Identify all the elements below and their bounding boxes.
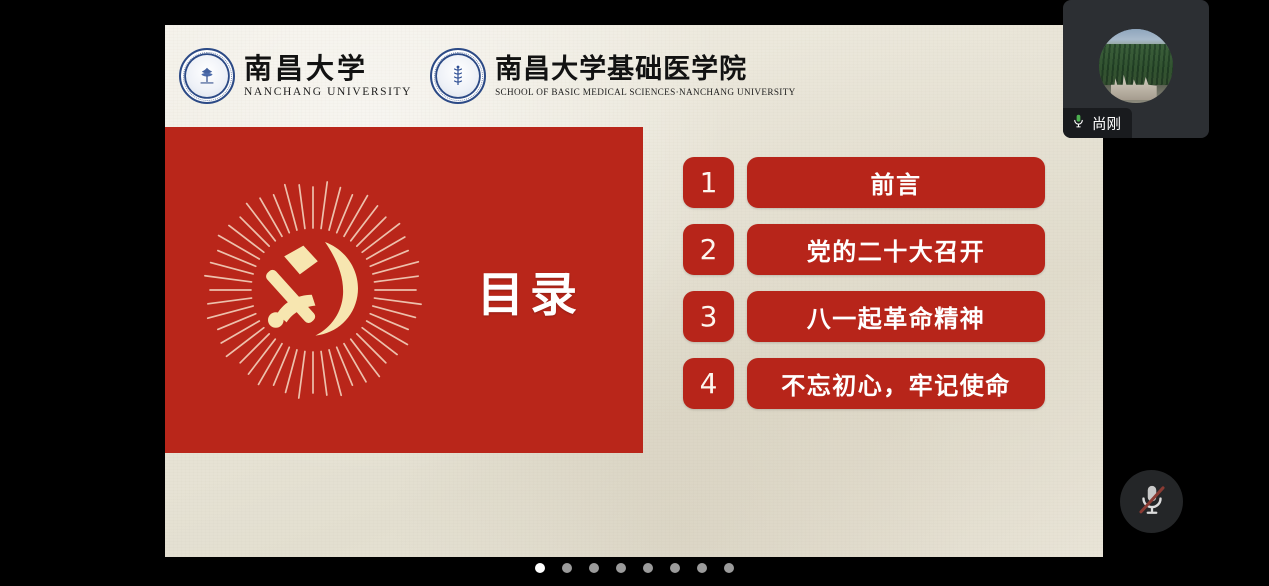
toc-item-label[interactable]: 前言 bbox=[747, 157, 1045, 208]
logo-cn-name: 南昌大学 bbox=[244, 54, 412, 84]
pagination-dot[interactable] bbox=[616, 563, 626, 573]
meeting-screen-share-view: 南昌大学 NANCHANG UNIVERSITY bbox=[0, 0, 1269, 586]
toc-menu-list: 1 前言 2 党的二十大召开 3 八一起革命精神 4 不忘初心，牢记使命 bbox=[683, 157, 1045, 409]
seal-emblem-icon bbox=[188, 57, 226, 95]
logo-text-block: 南昌大学 NANCHANG UNIVERSITY bbox=[244, 54, 412, 98]
page-title: 目录 bbox=[477, 256, 583, 325]
logo-cn-name: 南昌大学基础医学院 bbox=[495, 55, 796, 84]
logo-en-name: SCHOOL OF BASIC MEDICAL SCIENCES·NANCHAN… bbox=[495, 87, 796, 97]
shared-slide: 南昌大学 NANCHANG UNIVERSITY bbox=[165, 25, 1103, 557]
logo-text-block: 南昌大学基础医学院 SCHOOL OF BASIC MEDICAL SCIENC… bbox=[495, 55, 796, 96]
pagination-dot[interactable] bbox=[724, 563, 734, 573]
logo-school-basic-medical-sciences: 南昌大学基础医学院 SCHOOL OF BASIC MEDICAL SCIENC… bbox=[430, 48, 796, 104]
pagination-dots bbox=[0, 563, 1269, 573]
logo-nanchang-university: 南昌大学 NANCHANG UNIVERSITY bbox=[179, 48, 412, 104]
caduceus-icon bbox=[439, 57, 477, 95]
toc-item-number: 1 bbox=[683, 157, 734, 208]
toc-red-panel: 目录 bbox=[165, 127, 643, 453]
slide-header: 南昌大学 NANCHANG UNIVERSITY bbox=[165, 25, 1103, 127]
medical-school-seal-icon bbox=[430, 48, 486, 104]
logo-en-name: NANCHANG UNIVERSITY bbox=[244, 86, 412, 98]
university-seal-icon bbox=[179, 48, 235, 104]
toc-item-label[interactable]: 八一起革命精神 bbox=[747, 291, 1045, 342]
pagination-dot[interactable] bbox=[589, 563, 599, 573]
pagination-dot[interactable] bbox=[535, 563, 545, 573]
toc-item-number: 4 bbox=[683, 358, 734, 409]
toc-item-label[interactable]: 不忘初心，牢记使命 bbox=[747, 358, 1045, 409]
toc-item-label[interactable]: 党的二十大召开 bbox=[747, 224, 1045, 275]
microphone-muted-icon bbox=[1135, 483, 1169, 520]
toc-item-4[interactable]: 4 不忘初心，牢记使命 bbox=[683, 358, 1045, 409]
pagination-dot[interactable] bbox=[562, 563, 572, 573]
toc-item-number: 3 bbox=[683, 291, 734, 342]
hammer-and-sickle-icon bbox=[253, 230, 373, 350]
pagination-dot[interactable] bbox=[643, 563, 653, 573]
participant-name-bar: 尚刚 bbox=[1063, 108, 1132, 138]
party-emblem bbox=[193, 170, 433, 410]
avatar bbox=[1099, 29, 1173, 103]
toc-item-number: 2 bbox=[683, 224, 734, 275]
toc-item-3[interactable]: 3 八一起革命精神 bbox=[683, 291, 1045, 342]
mute-button[interactable] bbox=[1120, 470, 1183, 533]
pagination-dot[interactable] bbox=[697, 563, 707, 573]
microphone-on-icon bbox=[1071, 112, 1086, 135]
pagination-dot[interactable] bbox=[670, 563, 680, 573]
avatar-trees bbox=[1099, 44, 1173, 85]
toc-item-1[interactable]: 1 前言 bbox=[683, 157, 1045, 208]
participant-name: 尚刚 bbox=[1092, 113, 1121, 134]
participant-video-tile[interactable]: 尚刚 bbox=[1063, 0, 1209, 138]
toc-item-2[interactable]: 2 党的二十大召开 bbox=[683, 224, 1045, 275]
